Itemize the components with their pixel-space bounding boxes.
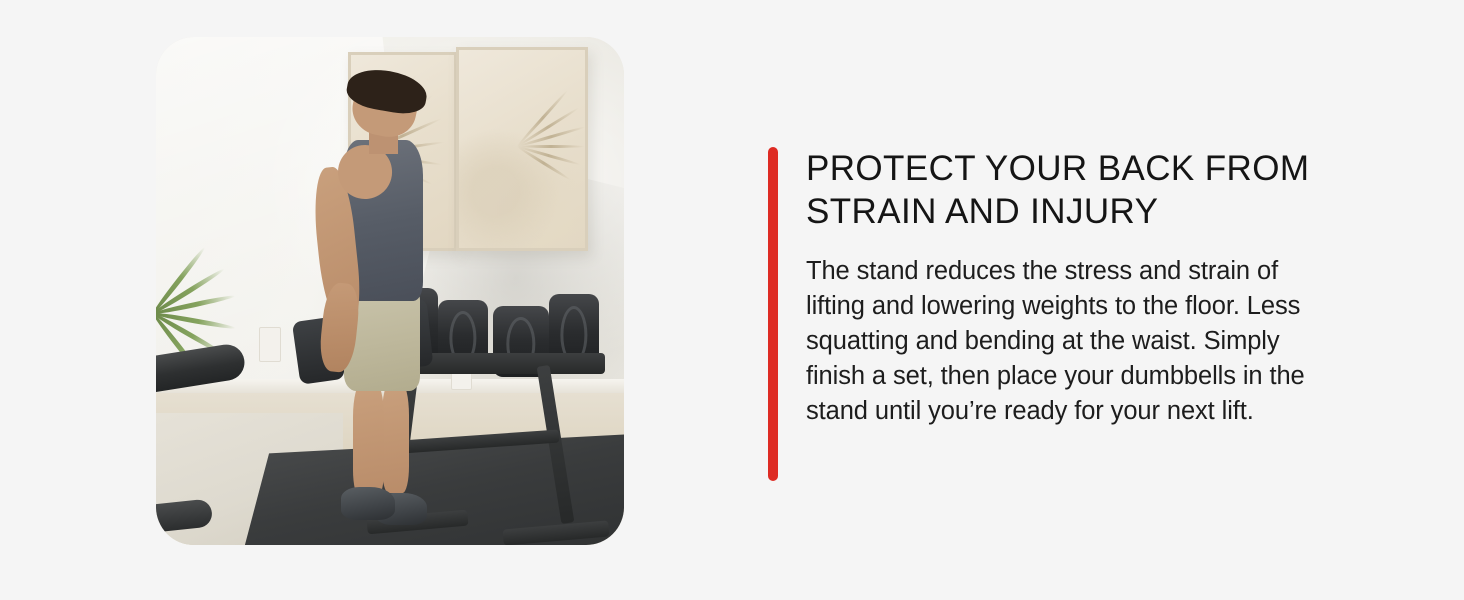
leg xyxy=(353,382,383,498)
leg xyxy=(382,382,409,494)
page-title: PROTECT YOUR BACK FROM STRAIN AND INJURY xyxy=(806,147,1318,233)
feature-banner: PROTECT YOUR BACK FROM STRAIN AND INJURY… xyxy=(0,0,1464,600)
body-paragraph: The stand reduces the stress and strain … xyxy=(806,233,1318,429)
wall-outlet-icon xyxy=(259,327,281,362)
red-accent-bar xyxy=(768,147,778,481)
person-lifting xyxy=(306,78,465,525)
lifestyle-photo xyxy=(156,37,624,545)
shoe xyxy=(341,487,395,521)
text-block: PROTECT YOUR BACK FROM STRAIN AND INJURY… xyxy=(806,147,1318,429)
wall-art-right xyxy=(456,47,588,251)
photo-scene xyxy=(156,37,624,545)
stand-leg xyxy=(537,365,574,524)
